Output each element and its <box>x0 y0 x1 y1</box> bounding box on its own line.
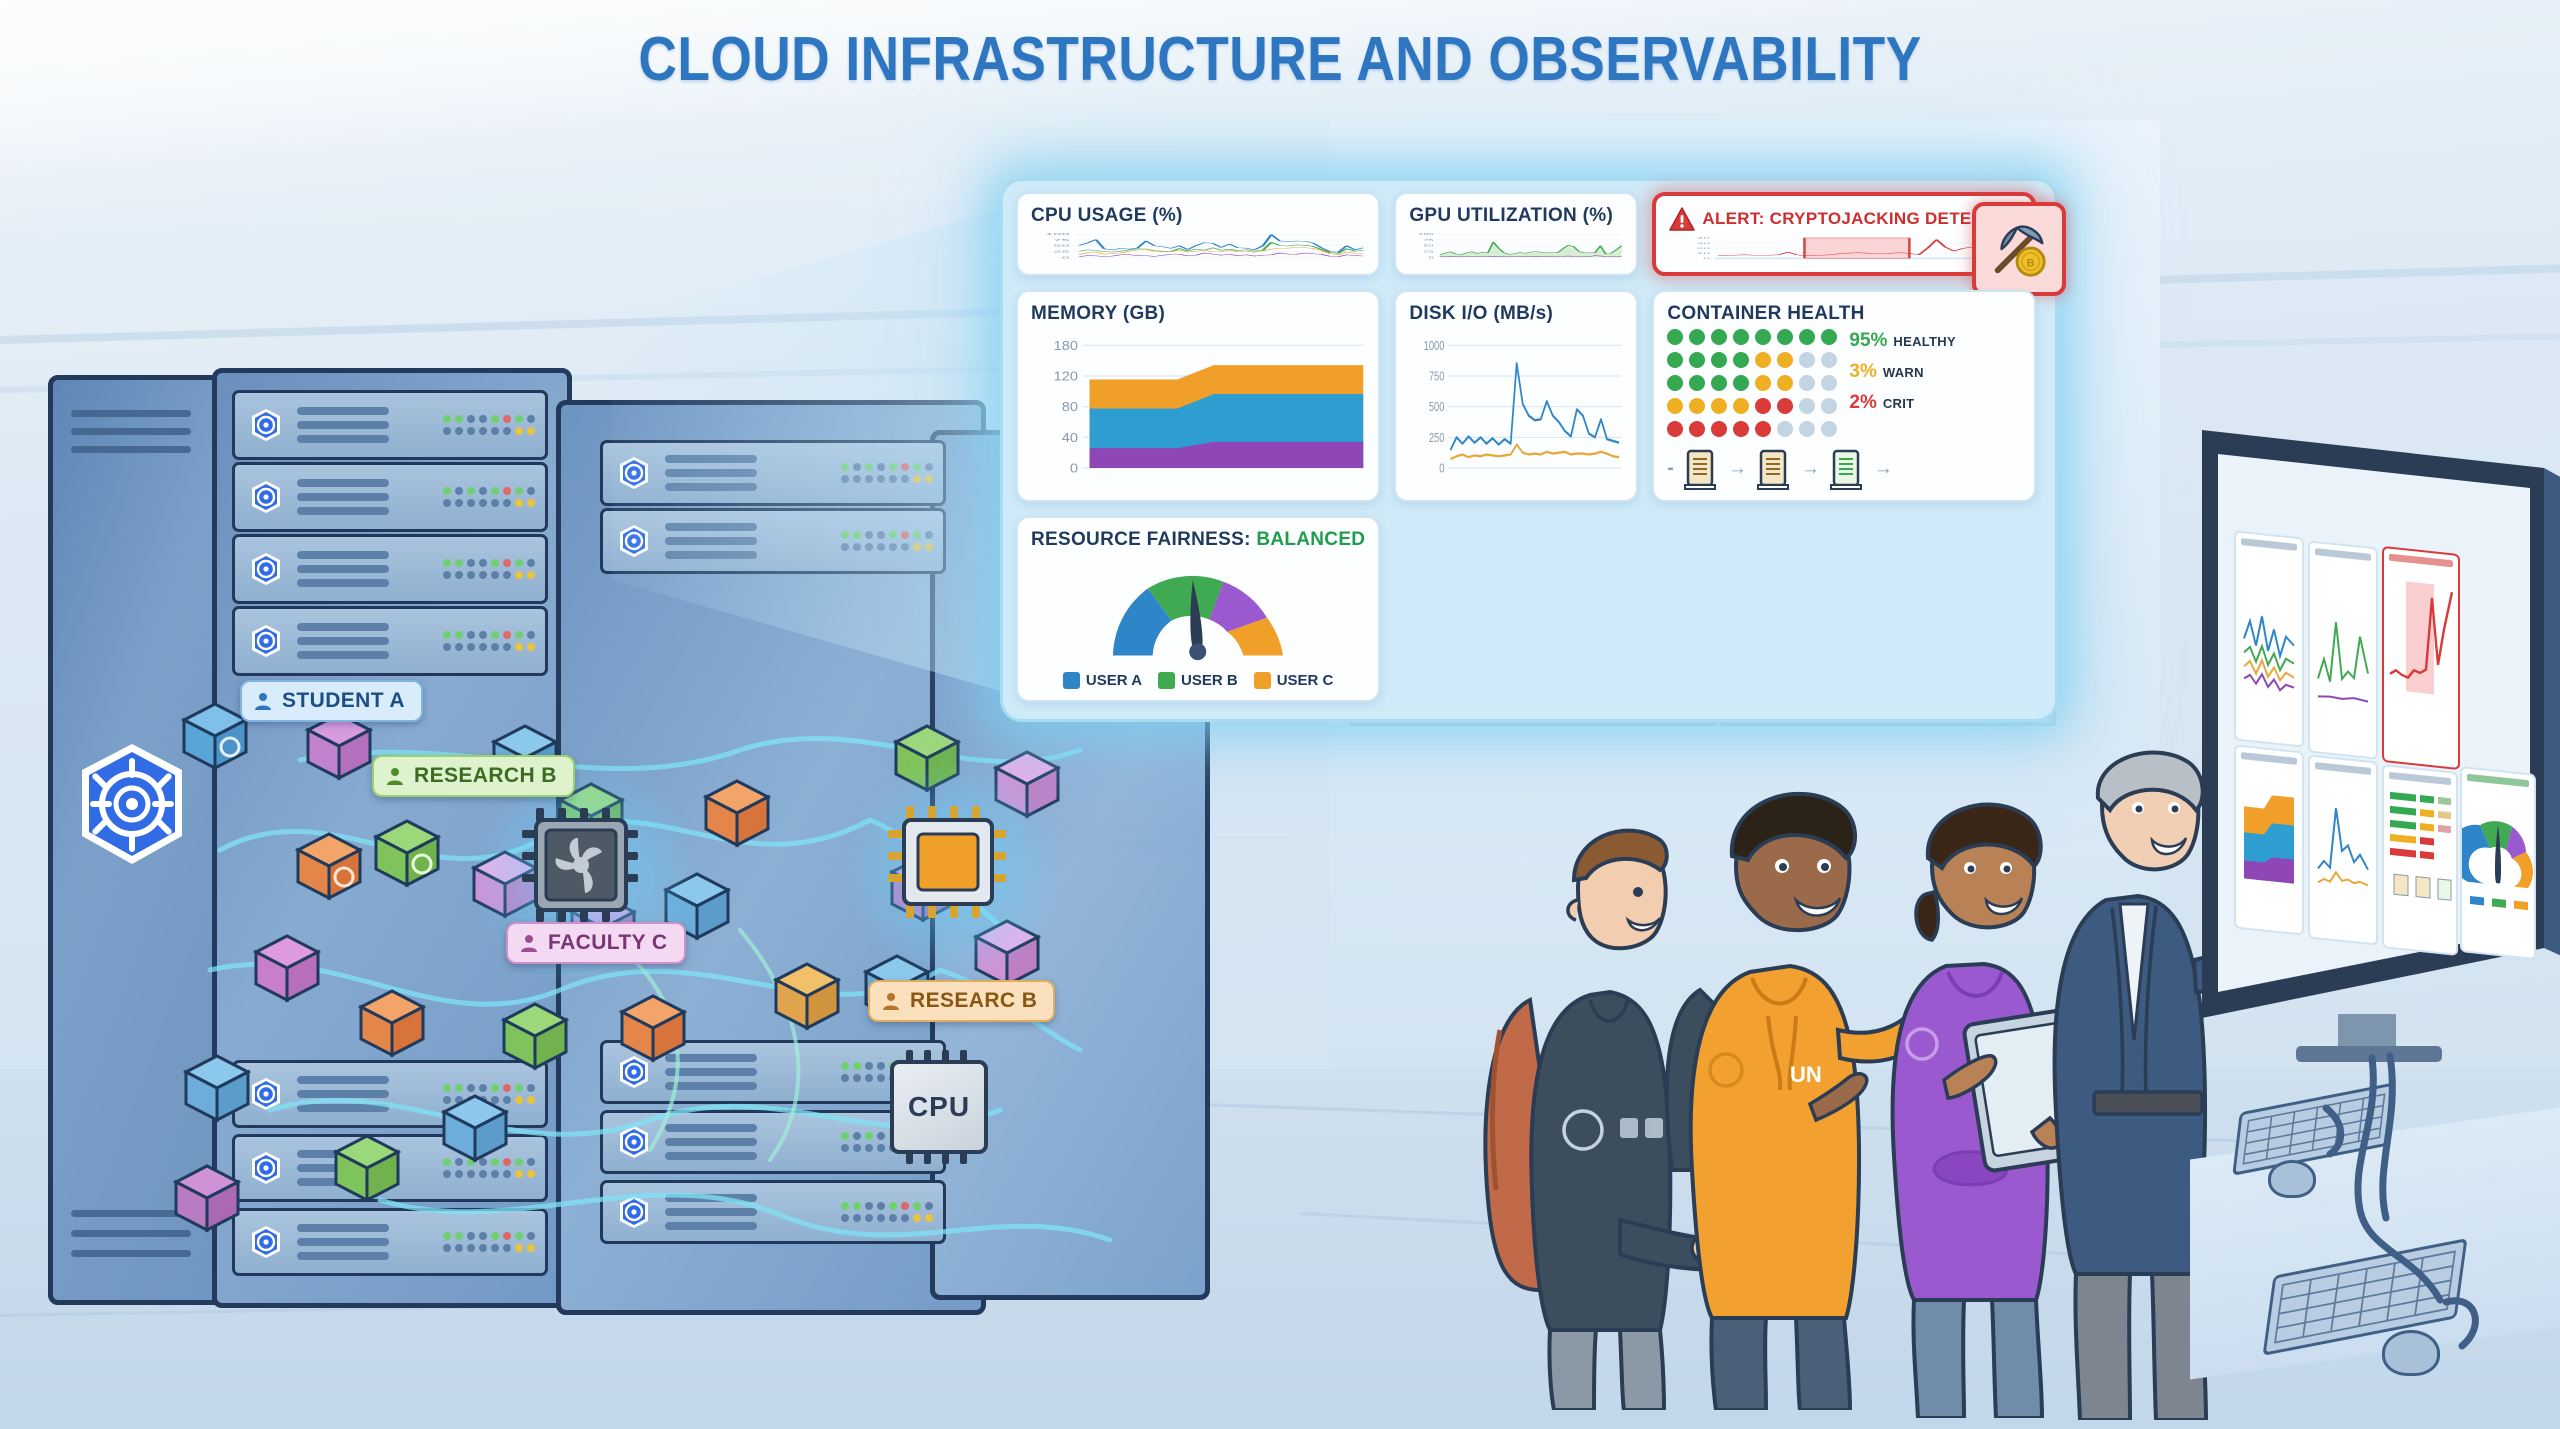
rack-vent <box>71 1250 191 1257</box>
badge-label: RESEARCH B <box>414 764 557 788</box>
legend-pct: 2% <box>1849 392 1876 414</box>
server-blade <box>232 462 548 532</box>
legend-label: USER B <box>1181 672 1238 689</box>
blade-leds <box>443 631 535 651</box>
health-pip <box>1667 329 1683 345</box>
panel-title: DISK I/O (MB/s) <box>1409 303 1623 325</box>
mini-panel-gpu <box>2308 540 2378 759</box>
legend-pct: 3% <box>1849 361 1876 383</box>
panel-resource-fairness[interactable]: RESOURCE FAIRNESS: BALANCED <box>1016 516 1380 702</box>
rack-vent <box>71 446 191 453</box>
health-pip <box>1733 375 1749 391</box>
health-pip <box>1777 352 1793 368</box>
chip-pin <box>924 1050 931 1064</box>
warning-triangle-icon <box>1669 207 1695 231</box>
legend-swatch <box>1254 672 1271 689</box>
chip-pin <box>942 1150 949 1164</box>
legend-row: 2% CRIT <box>1849 392 1956 414</box>
scroll-icon <box>1681 447 1721 491</box>
health-pip <box>1799 421 1815 437</box>
container-cube <box>292 828 366 902</box>
legend-swatch <box>1063 672 1080 689</box>
container-cube <box>700 775 774 849</box>
mini-panel-memory <box>2234 744 2304 935</box>
mini-panel-cpu <box>2234 530 2304 747</box>
blade-bars <box>297 623 389 659</box>
container-cube <box>170 1160 244 1234</box>
health-pip <box>1777 421 1793 437</box>
health-pip <box>1799 329 1815 345</box>
legend-item: USER C <box>1254 672 1334 689</box>
gpu-chip-icon <box>886 800 1010 924</box>
legend-label: CRIT <box>1883 396 1915 411</box>
cpu-label: CPU <box>908 1091 970 1123</box>
health-pip <box>1755 329 1771 345</box>
svg-text:180: 180 <box>1054 339 1079 353</box>
svg-text:500: 500 <box>1429 401 1445 415</box>
health-pip <box>1733 398 1749 414</box>
panel-title: MEMORY (GB) <box>1031 303 1365 325</box>
health-pip <box>1755 352 1771 368</box>
container-cube <box>616 990 690 1064</box>
health-pip <box>1755 375 1771 391</box>
svg-text:40: 40 <box>1697 237 1711 239</box>
health-pip <box>1711 375 1727 391</box>
health-pip <box>1799 375 1815 391</box>
flow-arrow: → <box>1728 458 1747 480</box>
legend-swatch <box>1158 672 1175 689</box>
legend-label: USER C <box>1277 672 1334 689</box>
flow-arrow: → <box>1874 458 1893 480</box>
svg-text:0: 0 <box>1062 256 1070 259</box>
server-blade <box>232 534 548 604</box>
user-badge-research-b[interactable]: RESEARCH B <box>372 755 575 797</box>
badge-label: FACULTY C <box>548 931 668 955</box>
panel-title: CPU USAGE (%) <box>1031 205 1365 227</box>
kubernetes-icon <box>249 479 283 515</box>
cpu-usage-chart: 1007550 250 <box>1031 231 1365 261</box>
container-cube <box>250 930 324 1004</box>
health-pip <box>1777 398 1793 414</box>
panel-cpu-usage[interactable]: CPU USAGE (%) 100755 <box>1016 192 1380 276</box>
legend-item: USER B <box>1158 672 1238 689</box>
health-pip <box>1821 352 1837 368</box>
memory-chart: 18012080 400 <box>1031 329 1365 487</box>
health-pip <box>1799 398 1815 414</box>
svg-text:20: 20 <box>1697 247 1711 249</box>
svg-text:0: 0 <box>1070 461 1079 475</box>
health-pip <box>1667 421 1683 437</box>
flow-arrow: - <box>1667 458 1673 480</box>
health-pip <box>1777 329 1793 345</box>
svg-text:750: 750 <box>1429 370 1445 384</box>
fairness-gauge-wrap: USER A USER B USER C <box>1031 555 1365 689</box>
container-pip-grid <box>1667 329 1837 437</box>
disk-io-chart: 1000750500 2500 <box>1409 329 1623 487</box>
panel-title: CONTAINER HEALTH <box>1667 303 2021 325</box>
legend-row: 3% WARN <box>1849 361 1956 383</box>
svg-text:50: 50 <box>1424 245 1435 247</box>
badge-label: RESEARC B <box>910 989 1037 1013</box>
page-title: CLOUD INFRASTRUCTURE AND OBSERVABILITY <box>179 24 2381 95</box>
container-cube <box>498 998 572 1072</box>
health-pip <box>1821 421 1837 437</box>
mini-panel-alert <box>2382 546 2460 770</box>
container-cube <box>330 1130 404 1204</box>
health-pip <box>1667 375 1683 391</box>
monitor-cables <box>2290 1050 2560 1380</box>
container-cube <box>355 985 429 1059</box>
chip-pin <box>960 1150 967 1164</box>
svg-text:10: 10 <box>1697 252 1711 254</box>
panel-container-health[interactable]: CONTAINER HEALTH 95% HEALTHY 3% WARN 2% … <box>1652 290 2036 502</box>
chip-pin <box>906 1050 913 1064</box>
server-blade <box>232 390 548 460</box>
chip-pin <box>942 1050 949 1064</box>
panel-title: RESOURCE FAIRNESS: BALANCED <box>1031 529 1365 551</box>
health-pip <box>1711 421 1727 437</box>
fairness-gauge <box>1099 561 1297 663</box>
container-health-body: 95% HEALTHY 3% WARN 2% CRIT <box>1667 329 2021 437</box>
svg-text:40: 40 <box>1062 431 1079 445</box>
health-pip <box>1733 421 1749 437</box>
legend-row: 95% HEALTHY <box>1849 330 1956 352</box>
hoodie-text: UN <box>1790 1062 1822 1087</box>
blade-leds <box>443 559 535 579</box>
panel-memory[interactable]: MEMORY (GB) 18012080 400 <box>1016 290 1380 502</box>
blade-bars <box>297 479 389 515</box>
blade-bars <box>297 551 389 587</box>
health-pip <box>1821 375 1837 391</box>
container-cube <box>438 1090 512 1164</box>
chip-pin <box>906 1150 913 1164</box>
health-pip <box>1821 398 1837 414</box>
person-icon <box>519 933 539 953</box>
person-icon <box>253 691 273 711</box>
health-pip <box>1711 329 1727 345</box>
health-pip <box>1821 329 1837 345</box>
svg-text:75: 75 <box>1424 239 1435 241</box>
kubernetes-logo <box>72 740 192 868</box>
chip-pin <box>924 1150 931 1164</box>
svg-text:75: 75 <box>1053 239 1069 242</box>
health-pip <box>1711 352 1727 368</box>
fairness-legend: USER A USER B USER C <box>1063 672 1334 689</box>
scroll-icon <box>1754 447 1794 491</box>
health-pip <box>1689 421 1705 437</box>
illustration-canvas: CLOUD INFRASTRUCTURE AND OBSERVABILITY <box>0 0 2560 1429</box>
health-pip <box>1667 352 1683 368</box>
cryptojacking-chart: 403020 100 <box>1669 235 2019 261</box>
container-health-legend: 95% HEALTHY 3% WARN 2% CRIT <box>1849 330 1956 414</box>
pipeline-flow: - → → → <box>1667 447 2021 491</box>
svg-text:250: 250 <box>1429 432 1445 446</box>
health-pip <box>1667 398 1683 414</box>
kubernetes-icon <box>249 551 283 587</box>
wall-monitor[interactable] <box>2188 418 2560 1068</box>
kubernetes-icon <box>249 407 283 443</box>
user-badge-researc-b[interactable]: RESEARC B <box>868 980 1055 1022</box>
health-pip <box>1733 352 1749 368</box>
mini-panel-container <box>2382 764 2458 956</box>
health-pip <box>1755 421 1771 437</box>
legend-label: WARN <box>1883 365 1924 380</box>
user-badge-student-a[interactable]: STUDENT A <box>240 680 423 722</box>
container-network <box>200 660 1210 1300</box>
health-pip <box>1689 329 1705 345</box>
panel-alert-cryptojacking[interactable]: ALERT: CRYPTOJACKING DETECTED <box>1652 192 2036 276</box>
panel-title: GPU UTILIZATION (%) <box>1409 205 1623 227</box>
mini-panel-disk <box>2308 754 2378 945</box>
user-badge-faculty-c[interactable]: FACULTY C <box>506 922 686 964</box>
panel-gpu-utilization[interactable]: GPU UTILIZATION (%) 1007550 <box>1394 192 1638 276</box>
flow-arrow: → <box>1801 458 1820 480</box>
rack-vent <box>71 428 191 435</box>
observability-dashboard: CPU USAGE (%) 100755 <box>1016 192 2036 702</box>
health-pip <box>1689 352 1705 368</box>
gpu-utilization-chart: 1007550 250 <box>1409 231 1623 261</box>
cpu-fan-icon <box>518 800 648 930</box>
svg-text:120: 120 <box>1054 369 1079 383</box>
svg-text:100: 100 <box>1045 233 1070 236</box>
svg-text:80: 80 <box>1062 400 1079 414</box>
legend-label: HEALTHY <box>1893 334 1956 349</box>
svg-text:B: B <box>2027 257 2035 269</box>
legend-pct: 95% <box>1849 330 1887 352</box>
svg-text:0: 0 <box>1704 257 1711 259</box>
panel-title: ALERT: CRYPTOJACKING DETECTED <box>1669 207 2019 231</box>
svg-text:25: 25 <box>1424 251 1435 253</box>
blade-leds <box>443 415 535 435</box>
health-pip <box>1799 352 1815 368</box>
svg-text:30: 30 <box>1697 242 1711 244</box>
svg-text:0: 0 <box>1440 462 1445 476</box>
health-pip <box>1733 329 1749 345</box>
container-cube <box>370 815 444 889</box>
legend-label: USER A <box>1086 672 1142 689</box>
rack-vent <box>71 410 191 417</box>
svg-text:25: 25 <box>1053 251 1069 254</box>
svg-text:100: 100 <box>1418 233 1434 235</box>
svg-text:50: 50 <box>1053 245 1069 248</box>
badge-label: STUDENT A <box>282 689 405 713</box>
svg-text:0: 0 <box>1429 257 1434 259</box>
blade-bars <box>297 407 389 443</box>
chip-pin <box>960 1050 967 1064</box>
health-pip <box>1689 398 1705 414</box>
kubernetes-icon <box>249 623 283 659</box>
panel-disk-io[interactable]: DISK I/O (MB/s) 1000750500 250 <box>1394 290 1638 502</box>
pickaxe-coin-icon: B <box>1972 202 2066 296</box>
blade-leds <box>443 487 535 507</box>
fairness-status: BALANCED <box>1256 529 1365 550</box>
health-pip <box>1711 398 1727 414</box>
health-pip <box>1777 375 1793 391</box>
legend-item: USER A <box>1063 672 1142 689</box>
health-pip <box>1689 375 1705 391</box>
cpu-chip-icon: CPU <box>890 1060 988 1154</box>
scroll-icon <box>1827 447 1867 491</box>
mini-panel-fairness <box>2460 766 2536 960</box>
person-icon <box>385 766 405 786</box>
container-cube <box>770 958 844 1032</box>
person-icon <box>881 991 901 1011</box>
svg-text:1000: 1000 <box>1424 340 1445 354</box>
health-pip <box>1755 398 1771 414</box>
container-cube <box>180 1050 254 1124</box>
fairness-label: RESOURCE FAIRNESS: <box>1031 529 1251 550</box>
